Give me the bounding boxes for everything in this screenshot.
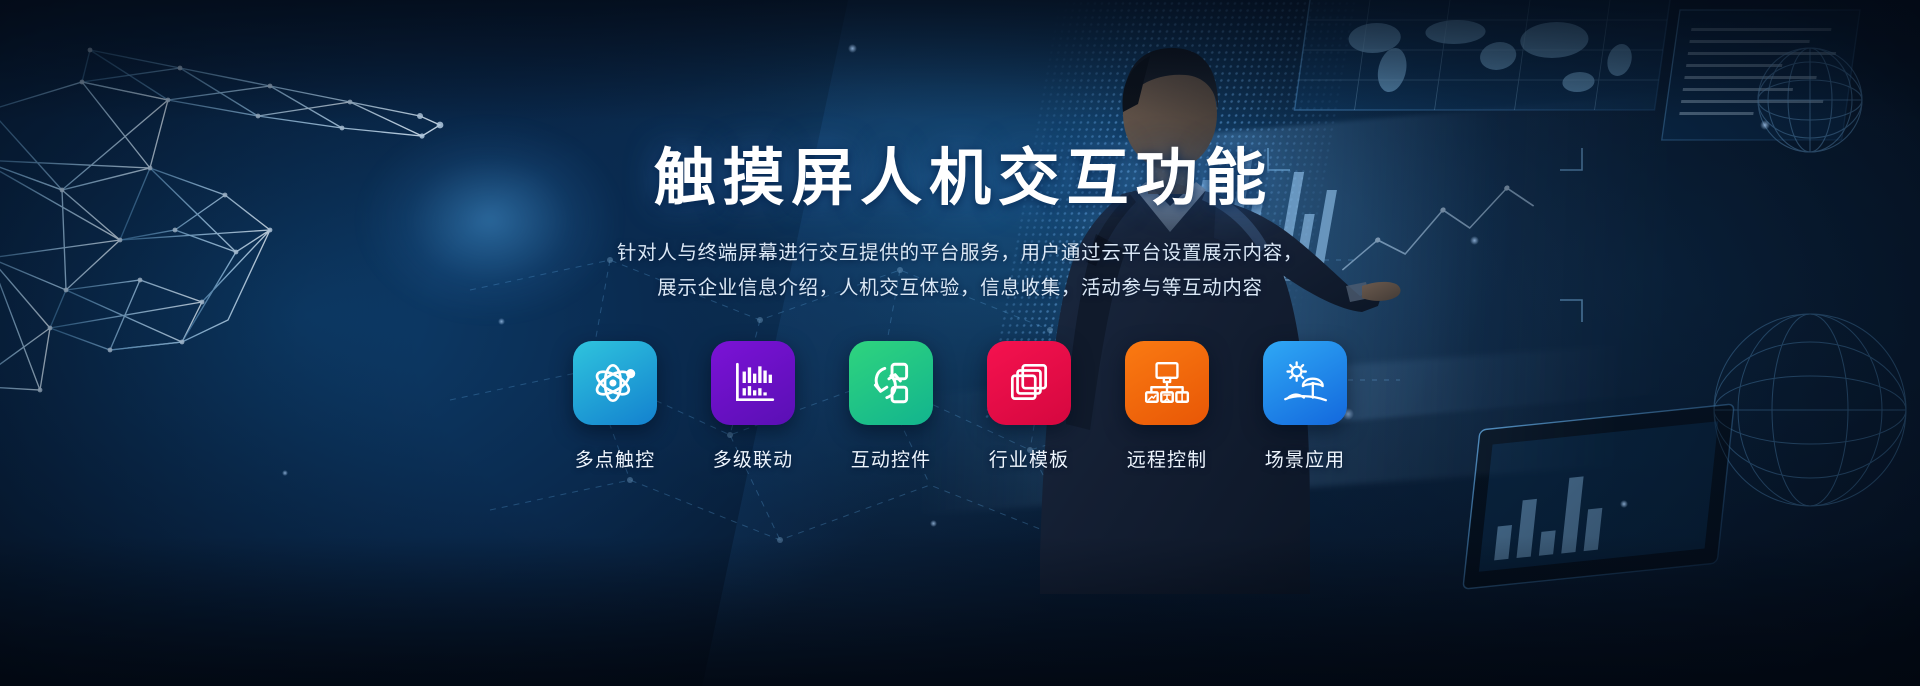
sync-widgets-icon xyxy=(866,358,916,408)
layers-stack-icon xyxy=(1004,358,1054,408)
feature-tile-remote[interactable] xyxy=(1125,341,1209,425)
subtitle-line-1: 针对人与终端屏幕进行交互提供的平台服务，用户通过云平台设置展示内容， xyxy=(617,236,1303,271)
banner-content: 触摸屏人机交互功能 针对人与终端屏幕进行交互提供的平台服务，用户通过云平台设置展… xyxy=(0,0,1920,686)
feature-item-scene[interactable]: 场景应用 xyxy=(1263,341,1347,472)
banner: 触摸屏人机交互功能 针对人与终端屏幕进行交互提供的平台服务，用户通过云平台设置展… xyxy=(0,0,1920,686)
feature-tile-multilevel[interactable] xyxy=(711,341,795,425)
beach-scene-icon xyxy=(1280,358,1330,408)
feature-label-multilevel: 多级联动 xyxy=(713,445,794,472)
feature-tile-multitouch[interactable] xyxy=(573,341,657,425)
feature-item-multitouch[interactable]: 多点触控 xyxy=(573,341,657,472)
feature-label-templates: 行业模板 xyxy=(989,445,1070,472)
remote-network-icon xyxy=(1142,358,1192,408)
feature-item-remote[interactable]: 远程控制 xyxy=(1125,341,1209,472)
feature-list: 多点触控 xyxy=(573,341,1347,472)
feature-item-widgets[interactable]: 互动控件 xyxy=(849,341,933,472)
feature-label-scene: 场景应用 xyxy=(1265,445,1346,472)
page-title: 触摸屏人机交互功能 xyxy=(654,148,1273,210)
feature-tile-widgets[interactable] xyxy=(849,341,933,425)
banner-subtitle: 针对人与终端屏幕进行交互提供的平台服务，用户通过云平台设置展示内容， 展示企业信… xyxy=(617,236,1303,305)
feature-item-multilevel[interactable]: 多级联动 xyxy=(711,341,795,472)
feature-item-templates[interactable]: 行业模板 xyxy=(987,341,1071,472)
bar-chart-icon xyxy=(728,358,778,408)
feature-label-remote: 远程控制 xyxy=(1127,445,1208,472)
feature-tile-templates[interactable] xyxy=(987,341,1071,425)
feature-tile-scene[interactable] xyxy=(1263,341,1347,425)
feature-label-multitouch: 多点触控 xyxy=(575,445,656,472)
subtitle-line-2: 展示企业信息介绍，人机交互体验，信息收集，活动参与等互动内容 xyxy=(617,271,1303,306)
atom-icon xyxy=(590,358,640,408)
feature-label-widgets: 互动控件 xyxy=(851,445,932,472)
